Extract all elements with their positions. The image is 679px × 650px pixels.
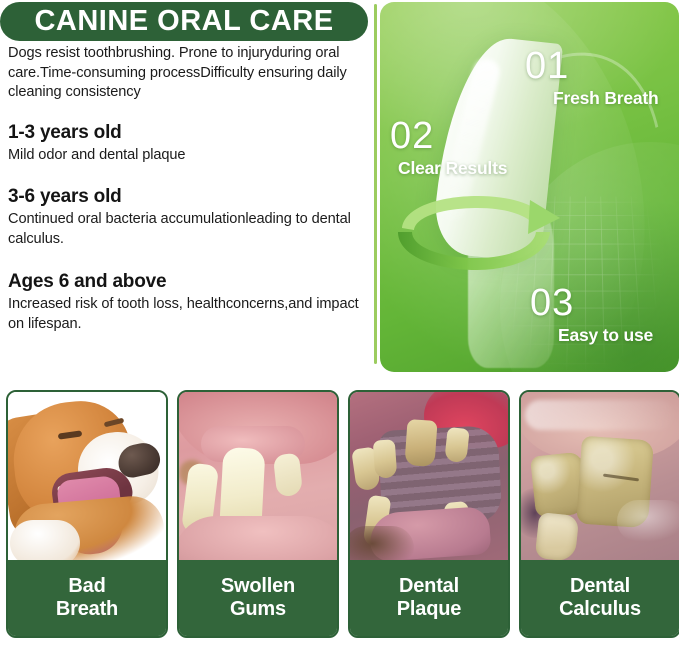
condition-card-row: Bad Breath Swollen Gums	[6, 390, 673, 644]
feature-item-03: 03 Easy to use	[530, 284, 653, 345]
condition-card-bad-breath[interactable]: Bad Breath	[6, 390, 168, 638]
feature-item-02-caption: Clear Results	[398, 158, 507, 178]
feature-item-02-number: 02	[390, 117, 507, 155]
tissue-highlight-2	[617, 500, 679, 542]
age-stage-3: Ages 6 and above Increased risk of tooth…	[8, 271, 368, 334]
dental-calculus-photo	[521, 392, 679, 564]
condition-card-dental-calculus[interactable]: Dental Calculus	[519, 390, 679, 638]
condition-card-swollen-gums-label: Swollen Gums	[179, 560, 337, 636]
age-stage-3-heading: Ages 6 and above	[8, 271, 368, 293]
feature-item-03-number: 03	[530, 284, 653, 322]
column-divider	[374, 4, 377, 364]
age-stage-2-description: Continued oral bacteria accumulationlead…	[8, 210, 368, 249]
age-stage-1: 1-3 years old Mild odor and dental plaqu…	[8, 122, 368, 166]
header-banner: CANINE ORAL CARE	[0, 2, 368, 41]
age-stage-1-heading: 1-3 years old	[8, 122, 368, 144]
age-stage-1-description: Mild odor and dental plaque	[8, 146, 368, 166]
rotating-arrow-icon	[388, 194, 566, 274]
dog-panting-photo	[8, 392, 166, 564]
plaque-tooth-2	[373, 439, 398, 478]
dental-plaque-photo	[350, 392, 508, 564]
feature-item-03-caption: Easy to use	[558, 325, 653, 345]
feature-item-01: 01 Fresh Breath	[525, 47, 659, 108]
swollen-gums-photo	[179, 392, 337, 564]
condition-card-dental-plaque[interactable]: Dental Plaque	[348, 390, 510, 638]
calculus-mass-3	[535, 512, 580, 562]
condition-card-bad-breath-label: Bad Breath	[8, 560, 166, 636]
feature-item-01-number: 01	[525, 47, 659, 85]
tissue-highlight-1	[525, 400, 675, 430]
muzzle-fur-shape	[350, 526, 414, 564]
plaque-tooth-3	[404, 419, 437, 467]
dog-chest-shape	[10, 520, 80, 564]
feature-item-01-caption: Fresh Breath	[553, 88, 659, 108]
age-stage-3-description: Increased risk of tooth loss, healthconc…	[8, 295, 368, 334]
left-text-column: Dogs resist toothbrushing. Prone to inju…	[8, 44, 368, 334]
age-stage-2: 3-6 years old Continued oral bacteria ac…	[8, 186, 368, 249]
condition-card-dental-plaque-label: Dental Plaque	[350, 560, 508, 636]
page-title: CANINE ORAL CARE	[0, 2, 368, 41]
intro-paragraph: Dogs resist toothbrushing. Prone to inju…	[8, 44, 368, 103]
condition-card-swollen-gums[interactable]: Swollen Gums	[177, 390, 339, 638]
feature-panel: 01 Fresh Breath 02 Clear Results 03 Easy…	[380, 2, 679, 372]
condition-card-dental-calculus-label: Dental Calculus	[521, 560, 679, 636]
feature-item-02: 02 Clear Results	[390, 117, 507, 178]
age-stage-2-heading: 3-6 years old	[8, 186, 368, 208]
tooth-shape-3	[273, 453, 303, 497]
lower-gum-shape	[179, 516, 337, 564]
